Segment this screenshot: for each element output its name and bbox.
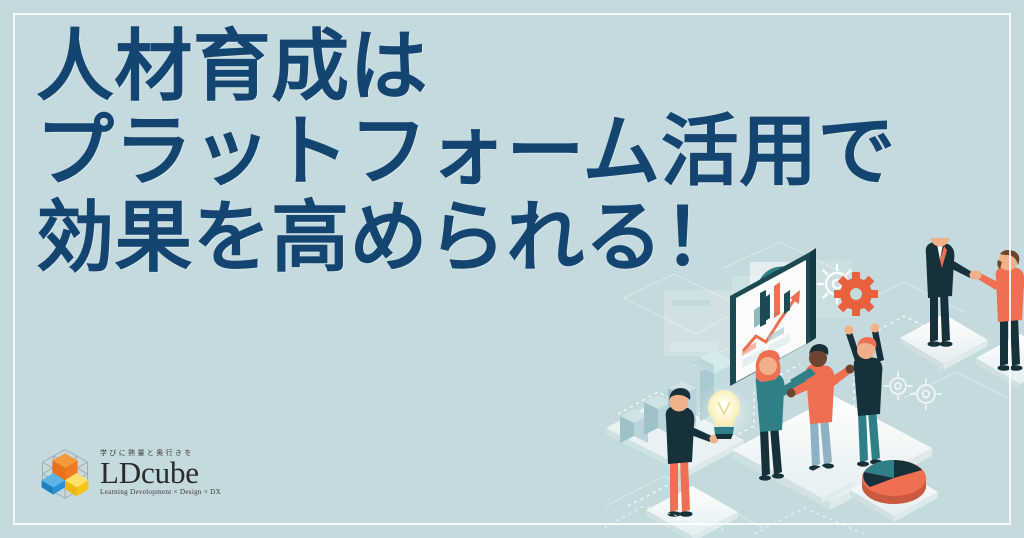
logo-text-block: 学びに熱量と奥行きを LDcube Learning Development ×… [100,450,221,497]
headline-line-1: 人材育成は [36,28,966,104]
page-title: 人材育成は プラットフォーム活用で 効果を高められる！ [36,28,966,284]
headline-line-3: 効果を高められる！ [36,199,966,275]
gear-outline-small-icon [884,372,941,409]
platform-bulb [646,486,738,538]
banner-canvas: 人材育成は プラットフォーム活用で 効果を高められる！ [0,0,1024,538]
logo-tagline-en: Learning Development × Design × DX [100,489,221,496]
cube-logo-icon [38,446,92,500]
ldcube-logo[interactable]: 学びに熱量と奥行きを LDcube Learning Development ×… [38,446,221,500]
headline-line-2: プラットフォーム活用で [36,113,966,189]
lightbulb-icon [694,383,754,443]
pie-chart [862,460,926,504]
logo-wordmark: LDcube [100,459,199,488]
